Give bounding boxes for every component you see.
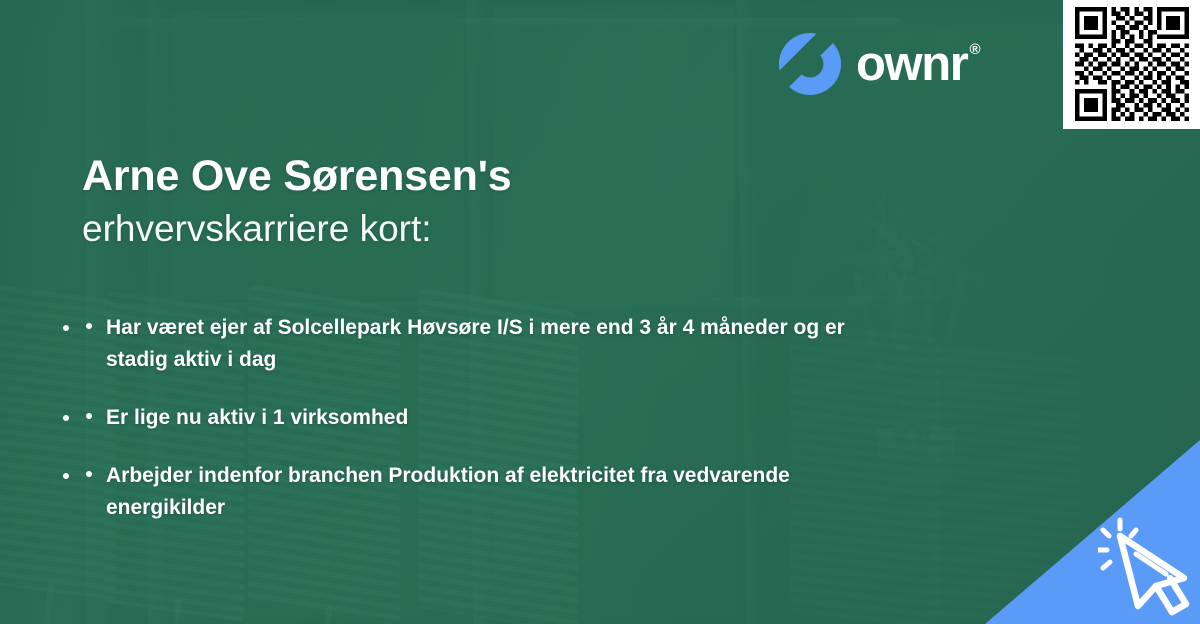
ownr-circle-slash-icon — [778, 32, 842, 96]
bullet-dot-icon — [86, 471, 92, 477]
list-item-text: Arbejder indenfor branchen Produktion af… — [106, 464, 790, 519]
title-person-name: Arne Ove Sørensen's — [82, 152, 862, 200]
bullet-dot-icon — [86, 323, 92, 329]
list-item: Er lige nu aktiv i 1 virksomhed — [82, 402, 882, 434]
page-title: Arne Ove Sørensen's erhvervskarriere kor… — [82, 152, 862, 252]
bullet-dot-icon — [86, 413, 92, 419]
list-item-text: Har været ejer af Solcellepark Høvsøre I… — [106, 316, 845, 371]
list-item: Arbejder indenfor branchen Produktion af… — [82, 460, 882, 524]
list-item-text: Er lige nu aktiv i 1 virksomhed — [106, 406, 408, 429]
ownr-wordmark: ownr ® — [856, 40, 981, 89]
list-item: Har været ejer af Solcellepark Høvsøre I… — [82, 312, 882, 376]
registered-trademark-symbol: ® — [969, 42, 980, 57]
ownr-wordmark-text: ownr — [856, 40, 967, 89]
career-summary-card: Arne Ove Sørensen's erhvervskarriere kor… — [0, 0, 1200, 624]
card-content: Arne Ove Sørensen's erhvervskarriere kor… — [0, 0, 1200, 624]
title-subtitle: erhvervskarriere kort: — [82, 206, 862, 252]
career-facts-list: Har været ejer af Solcellepark Høvsøre I… — [82, 312, 882, 524]
click-cursor-icon — [1098, 516, 1198, 618]
qr-code-panel[interactable] — [1063, 0, 1200, 129]
ownr-logo[interactable]: ownr ® — [778, 32, 981, 96]
qr-code — [1070, 7, 1194, 121]
